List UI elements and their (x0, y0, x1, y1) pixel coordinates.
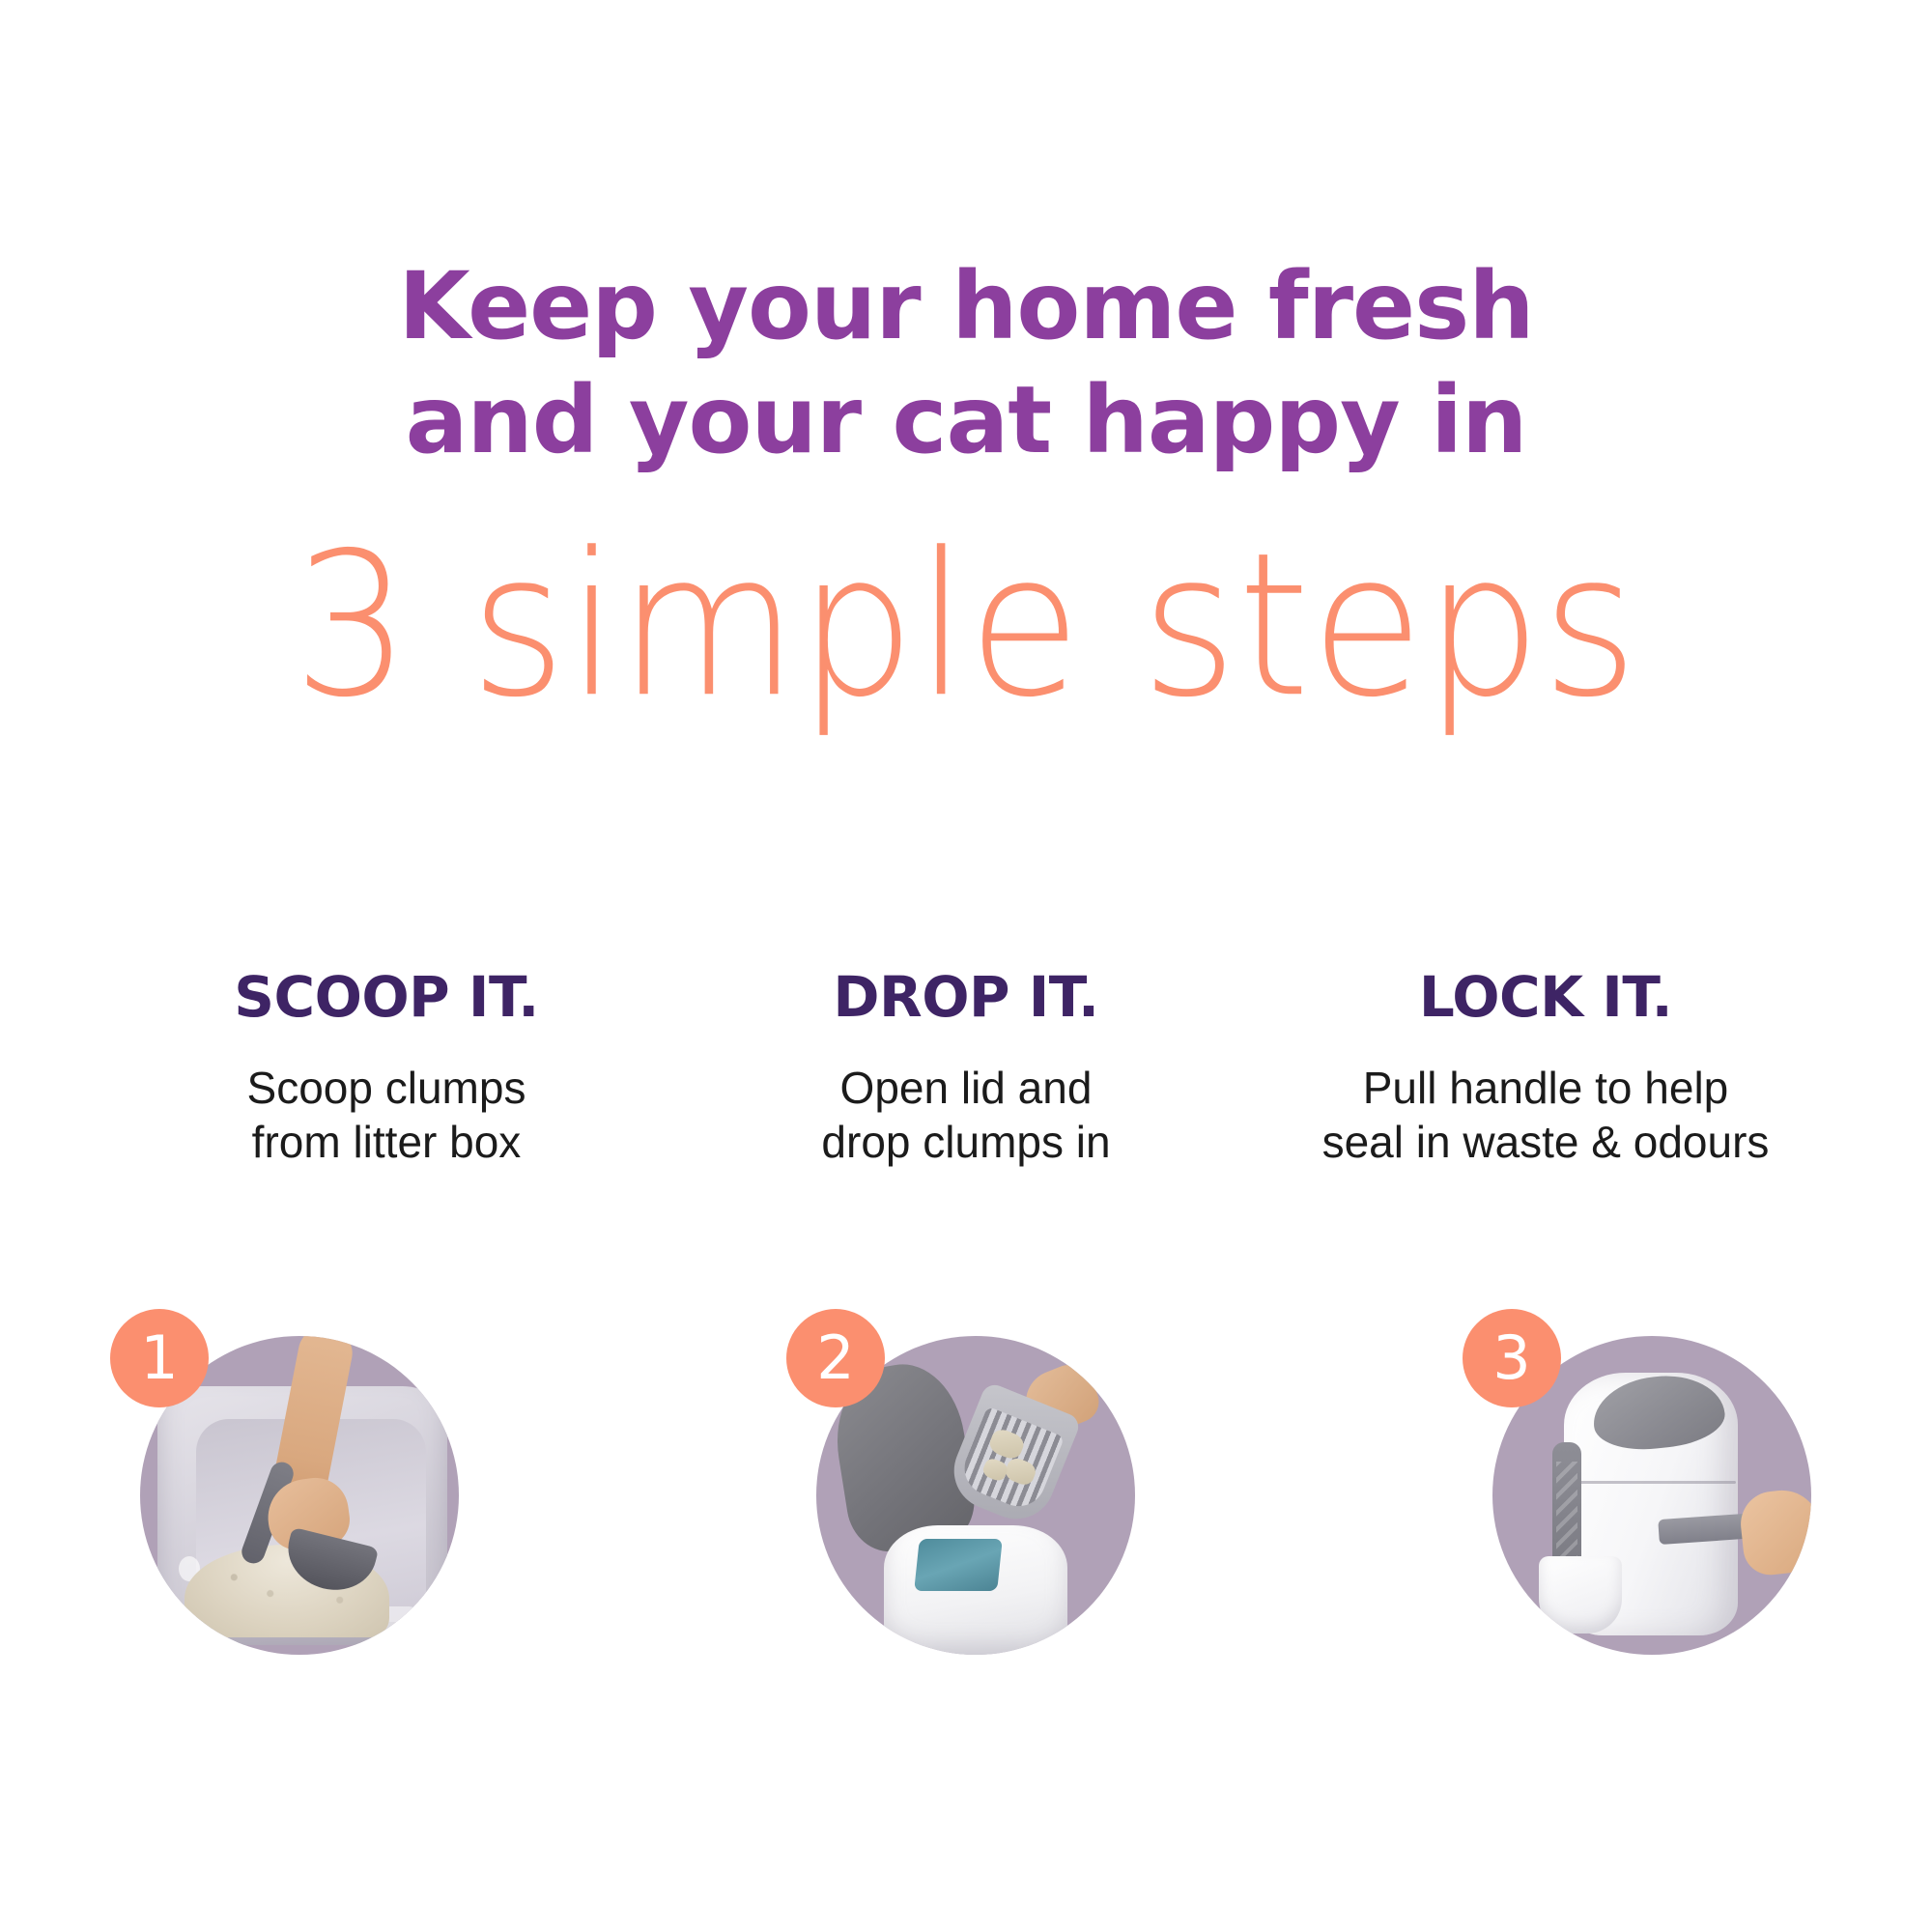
headline-line-1: Keep your home fresh (0, 249, 1932, 363)
pail-seam (1568, 1481, 1736, 1484)
step-image-cell-1: 1 (97, 1309, 483, 1695)
step-column-2: DROP IT. Open lid and drop clumps in (676, 966, 1256, 1169)
headline-block: Keep your home fresh and your cat happy … (0, 249, 1932, 477)
subheadline-emphasis: 3 simple steps (0, 522, 1932, 730)
step-column-1: SCOOP IT. Scoop clumps from litter box (97, 966, 676, 1169)
pail-opening-liner (914, 1539, 1003, 1591)
subheadline-block: 3 simple steps (0, 522, 1932, 715)
pail-scoop-holder (1539, 1556, 1622, 1634)
step-title-scoop-it: SCOOP IT. (234, 966, 539, 1028)
step-title-lock-it: LOCK IT. (1419, 966, 1672, 1028)
step-number-badge-1: 1 (110, 1309, 209, 1407)
infographic-page: Keep your home fresh and your cat happy … (0, 0, 1932, 1932)
step-description-3: Pull handle to help seal in waste & odou… (1322, 1061, 1770, 1169)
step-image-cell-3: 3 (1449, 1309, 1835, 1695)
step-column-3: LOCK IT. Pull handle to help seal in was… (1256, 966, 1835, 1169)
step-title-drop-it: DROP IT. (833, 966, 1098, 1028)
step-image-cell-2: 2 (773, 1309, 1159, 1695)
human-hand (1738, 1487, 1811, 1577)
headline-line-2: and your cat happy in (0, 363, 1932, 477)
steps-image-row: 1 2 (97, 1309, 1835, 1695)
step-number-badge-2: 2 (786, 1309, 885, 1407)
step-number-badge-3: 3 (1463, 1309, 1561, 1407)
step-description-2: Open lid and drop clumps in (821, 1061, 1110, 1169)
step-description-1: Scoop clumps from litter box (247, 1061, 526, 1169)
steps-caption-row: SCOOP IT. Scoop clumps from litter box D… (97, 966, 1835, 1169)
